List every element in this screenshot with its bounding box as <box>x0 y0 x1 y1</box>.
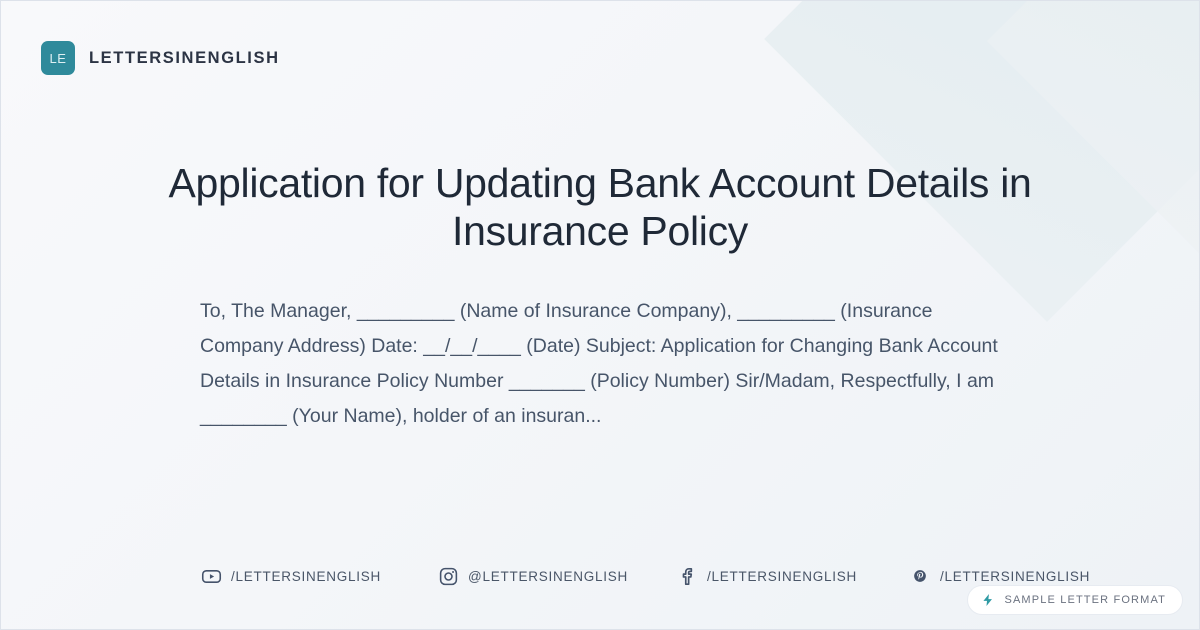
social-link-facebook[interactable]: /LETTERSINENGLISH <box>676 565 857 587</box>
facebook-icon <box>676 565 698 587</box>
page-title: Application for Updating Bank Account De… <box>101 159 1099 256</box>
status-badge-label: SAMPLE LETTER FORMAT <box>1004 594 1166 606</box>
social-label-instagram: @LETTERSINENGLISH <box>468 569 628 584</box>
social-link-pinterest[interactable]: /LETTERSINENGLISH <box>909 565 1090 587</box>
social-link-instagram[interactable]: @LETTERSINENGLISH <box>437 565 628 587</box>
social-links-bar: /LETTERSINENGLISH @LETTERSINENGLISH /LET… <box>200 565 1090 587</box>
youtube-icon <box>200 565 222 587</box>
status-badge[interactable]: SAMPLE LETTER FORMAT <box>967 585 1183 615</box>
brand-logo-initials: LE <box>50 51 67 66</box>
instagram-icon <box>437 565 459 587</box>
social-label-youtube: /LETTERSINENGLISH <box>231 569 381 584</box>
brand-logo-mark: LE <box>41 41 75 75</box>
letter-excerpt: To, The Manager, _________ (Name of Insu… <box>200 294 1000 434</box>
pinterest-icon <box>909 565 931 587</box>
social-label-pinterest: /LETTERSINENGLISH <box>940 569 1090 584</box>
social-label-facebook: /LETTERSINENGLISH <box>707 569 857 584</box>
brand-wordmark: LETTERSINENGLISH <box>89 49 280 68</box>
lightning-bolt-icon <box>981 593 995 607</box>
social-link-youtube[interactable]: /LETTERSINENGLISH <box>200 565 381 587</box>
social-share-card: LE LETTERSINENGLISH Application for Upda… <box>0 0 1200 630</box>
brand-header[interactable]: LE LETTERSINENGLISH <box>41 41 280 75</box>
